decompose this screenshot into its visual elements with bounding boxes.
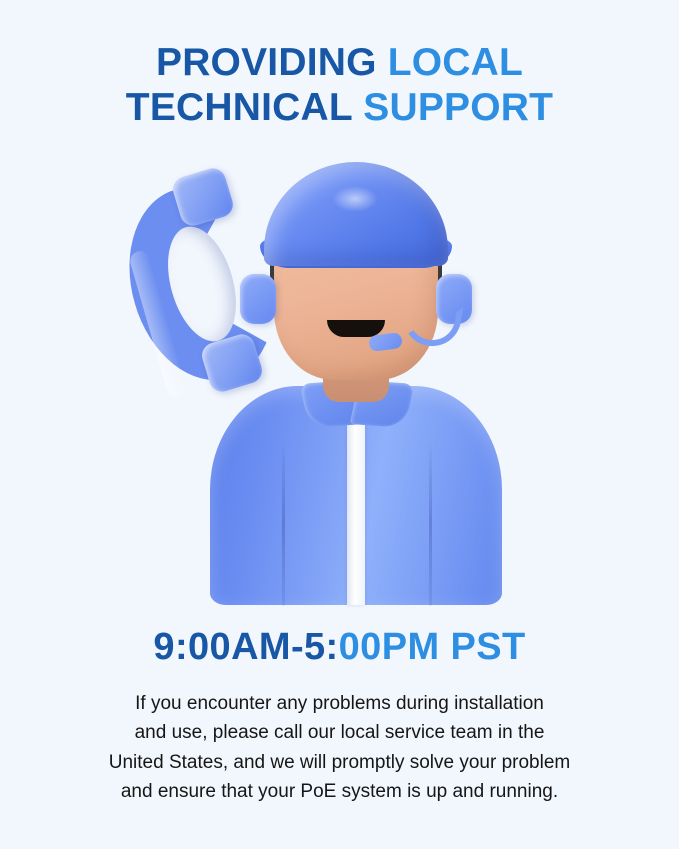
- support-agent-character: [196, 150, 516, 605]
- page-title: PROVIDING LOCAL TECHNICAL SUPPORT: [0, 40, 679, 130]
- headset-earpiece-left: [240, 274, 276, 324]
- description-line-2: and use, please call our local service t…: [0, 718, 679, 747]
- description-line-3: United States, and we will promptly solv…: [0, 748, 679, 777]
- support-hours-dark: 9:00AM-5:: [153, 626, 338, 668]
- title-line-1: PROVIDING LOCAL: [0, 40, 679, 85]
- title-line-1-light: LOCAL: [388, 41, 523, 84]
- description-line-4: and ensure that your PoE system is up an…: [0, 777, 679, 806]
- title-line-2: TECHNICAL SUPPORT: [0, 85, 679, 130]
- cap-highlight: [332, 186, 378, 212]
- character-cap: [264, 162, 448, 266]
- title-line-2-dark: TECHNICAL: [126, 86, 363, 129]
- jacket-right-arm-seam: [429, 440, 432, 606]
- description-line-1: If you encounter any problems during ins…: [0, 689, 679, 718]
- support-illustration: [0, 150, 679, 605]
- title-line-1-dark: PROVIDING: [156, 41, 388, 84]
- support-hours: 9:00AM-5:00PM PST: [0, 626, 679, 669]
- title-line-2-light: SUPPORT: [363, 86, 553, 129]
- jacket-left-arm-seam: [282, 440, 285, 606]
- support-hours-light: 00PM PST: [339, 626, 526, 668]
- jacket-zipper-placket: [347, 398, 365, 605]
- support-description: If you encounter any problems during ins…: [0, 689, 679, 806]
